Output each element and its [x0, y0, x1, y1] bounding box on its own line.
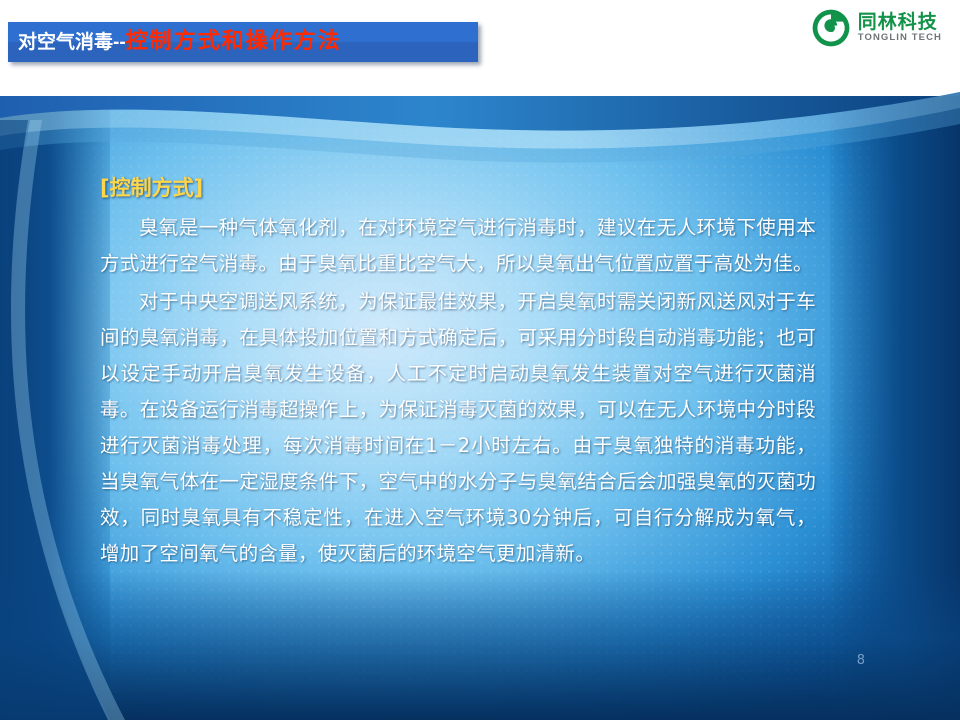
- body-paragraph-1: 臭氧是一种气体氧化剂，在对环境空气进行消毒时，建议在无人环境下使用本方式进行空气…: [100, 210, 816, 282]
- green-circle-g-logo-icon: [811, 8, 851, 48]
- logo-company-name-cn: 同林科技: [858, 13, 942, 33]
- logo-text-block: 同林科技 TONGLIN TECH: [858, 13, 942, 43]
- background-bottom-shade: [0, 570, 960, 720]
- slide-title-bar: 对空气消毒-- 控制方式和操作方法: [8, 22, 478, 62]
- logo-company-name-en: TONGLIN TECH: [858, 33, 942, 43]
- slide: 对空气消毒-- 控制方式和操作方法 同林科技 TONGLIN TECH [控制方…: [0, 0, 960, 720]
- body-paragraph-2: 对于中央空调送风系统，为保证最佳效果，开启臭氧时需关闭新风送风对于车间的臭氧消毒…: [100, 284, 816, 572]
- company-logo: 同林科技 TONGLIN TECH: [811, 8, 942, 48]
- section-heading: [控制方式]: [100, 172, 816, 202]
- page-number: 8: [857, 653, 865, 668]
- slide-title-prefix: 对空气消毒--: [18, 33, 126, 52]
- slide-body: [控制方式] 臭氧是一种气体氧化剂，在对环境空气进行消毒时，建议在无人环境下使用…: [100, 172, 816, 572]
- slide-title-main: 控制方式和操作方法: [126, 31, 342, 53]
